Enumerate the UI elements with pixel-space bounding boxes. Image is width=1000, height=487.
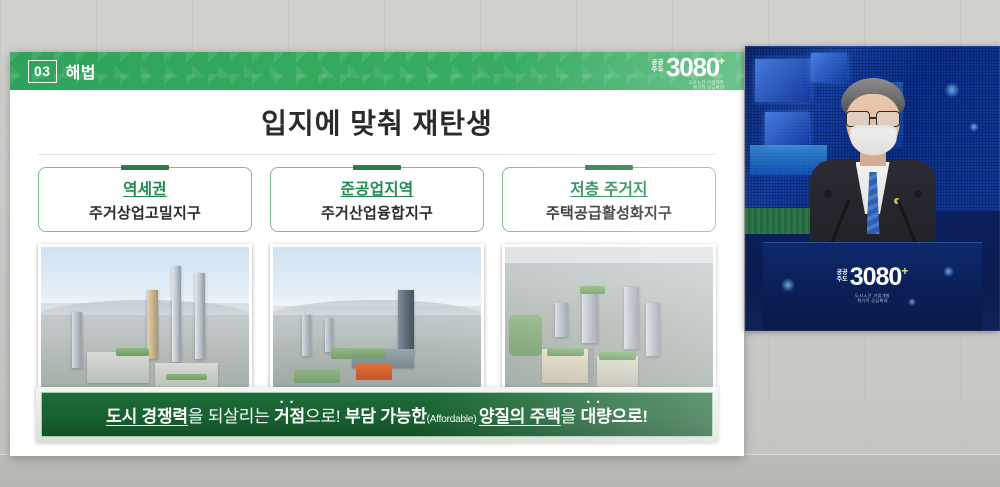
banner-seg-1: 도시 경쟁력 — [106, 407, 188, 426]
brand-logo-plus: + — [718, 55, 725, 67]
eyeglasses-icon — [845, 111, 901, 125]
surrounding-blocks — [505, 247, 713, 281]
microphone-head-right — [914, 190, 922, 198]
lectern-brand-korean: 공공 주도 — [837, 270, 848, 284]
column-station-area: 역세권 주거상업고밀지구 — [38, 167, 252, 405]
banner-seg-5: 부담 가능한 — [345, 407, 427, 426]
rendering-station-area — [38, 244, 252, 405]
column-subheading: 주택공급활성화지구 — [507, 202, 711, 223]
column-heading: 준공업지역 — [275, 177, 479, 199]
podium-building-1 — [87, 352, 149, 383]
green-roof-3 — [580, 286, 605, 294]
orange-accent-building — [356, 363, 391, 380]
low-rise-block-2 — [597, 356, 639, 387]
lectern-brand-korean-line2: 주도 — [837, 277, 848, 284]
slide-title: 입지에 맞춰 재탄생 — [10, 90, 744, 142]
column-header-low-rise: 저층 주거지 주택공급활성화지구 — [502, 167, 716, 232]
column-low-rise: 저층 주거지 주택공급활성화지구 — [502, 167, 716, 405]
slide-header-bar: 03 해법 공공 주도 3080 + 도시人간 거점개발 획기적 공급확대 — [10, 52, 744, 90]
projected-slide: 03 해법 공공 주도 3080 + 도시人간 거점개발 획기적 공급확대 입지… — [10, 52, 744, 456]
banner-seg-2: 을 되살리는 — [188, 407, 274, 426]
key-message-banner: 도시 경쟁력을 되살리는 거점으로! 부담 가능한(Affordable) 양질… — [41, 392, 713, 437]
presentation-room-background: 03 해법 공공 주도 3080 + 도시人간 거점개발 획기적 공급확대 입지… — [0, 0, 1000, 487]
tower-1 — [172, 266, 181, 362]
lectern: 공공 주도 3080 + 도시人간 거점개발 획기적 공급확대 — [763, 242, 982, 331]
brand-logo-korean-line1: 공공 — [651, 59, 664, 66]
brand-logo-korean-line2: 주도 — [651, 66, 664, 73]
rendering-semi-industrial — [270, 244, 484, 405]
banner-seg-4: 으로! — [305, 407, 345, 426]
apartment-3 — [646, 303, 660, 356]
brand-logo-3080: 공공 주도 3080 + — [651, 54, 726, 80]
rendering-low-rise — [502, 244, 716, 405]
chapter-number-badge: 03 — [28, 60, 57, 83]
green-corridor — [331, 348, 385, 359]
banner-seg-3: 거점 — [274, 407, 305, 426]
banner-seg-8: 을 — [561, 407, 581, 426]
column-subheading: 주거산업융합지구 — [275, 202, 479, 223]
green-roof-2 — [166, 374, 208, 380]
column-header-semi-industrial: 준공업지역 주거산업융합지구 — [270, 167, 484, 232]
rendering-image-1 — [41, 247, 249, 402]
apartment-4 — [555, 303, 568, 337]
tower-2 — [195, 273, 205, 358]
apartment-2 — [624, 287, 639, 349]
microphone-head-left — [824, 190, 832, 198]
slide-body: 입지에 맞춰 재탄생 역세권 주거상업고밀지구 — [10, 90, 744, 456]
brand-logo-tagline: 도시人간 거점개발 획기적 공급확대 — [688, 80, 724, 90]
lectern-brand-logo: 공공 주도 3080 + — [837, 265, 909, 290]
banner-text: 도시 경쟁력을 되살리는 거점으로! 부담 가능한(Affordable) 양질… — [106, 407, 648, 426]
rendering-image-2 — [273, 247, 481, 402]
banner-seg-6: (Affordable) — [427, 414, 479, 425]
strategy-columns: 역세권 주거상업고밀지구 — [10, 155, 744, 405]
green-park — [294, 369, 340, 383]
key-message-banner-frame: 도시 경쟁력을 되살리는 거점으로! 부담 가능한(Affordable) 양질… — [36, 387, 718, 442]
column-heading: 역세권 — [43, 177, 247, 199]
lectern-brand-tagline-line2: 획기적 공급확대 — [855, 298, 890, 303]
column-header-station-area: 역세권 주거상업고밀지구 — [38, 167, 252, 232]
tower-left-1 — [302, 315, 311, 355]
brand-logo-number: 3080 — [666, 54, 719, 80]
park-area — [509, 315, 542, 355]
banner-seg-10: 으로! — [612, 407, 648, 426]
column-subheading: 주거상업고밀지구 — [43, 202, 247, 223]
column-heading: 저층 주거지 — [507, 177, 711, 199]
green-roof-1 — [116, 348, 149, 356]
chapter-label: 해법 — [66, 59, 96, 83]
lectern-bokeh-1 — [781, 278, 795, 292]
office-tower — [398, 290, 414, 355]
lectern-brand-plus: + — [901, 264, 908, 278]
lectern-brand-korean-line1: 공공 — [837, 270, 848, 277]
light-bokeh-2 — [969, 122, 979, 132]
lectern-bokeh-2 — [943, 266, 954, 277]
lectern-brand-tagline: 도시人간 거점개발 획기적 공급확대 — [855, 293, 890, 303]
banner-seg-9: 대량 — [581, 407, 612, 426]
floor-strip — [0, 454, 1000, 487]
green-roof-2 — [599, 352, 636, 360]
tower-4 — [72, 312, 82, 368]
lectern-brand-number: 3080 — [850, 265, 902, 290]
live-speaker-inset: 공공 주도 3080 + 도시人간 거점개발 획기적 공급확대 — [745, 46, 1000, 331]
face-mask — [850, 125, 897, 155]
lectern-bokeh-3 — [908, 298, 916, 306]
banner-seg-7: 양질의 주택 — [479, 407, 561, 426]
apartment-1 — [582, 287, 598, 343]
column-semi-industrial: 준공업지역 주거산업융합지구 — [270, 167, 484, 405]
brand-logo-korean: 공공 주도 — [651, 59, 664, 73]
rendering-image-3 — [505, 247, 713, 402]
green-roof-1 — [547, 348, 584, 356]
